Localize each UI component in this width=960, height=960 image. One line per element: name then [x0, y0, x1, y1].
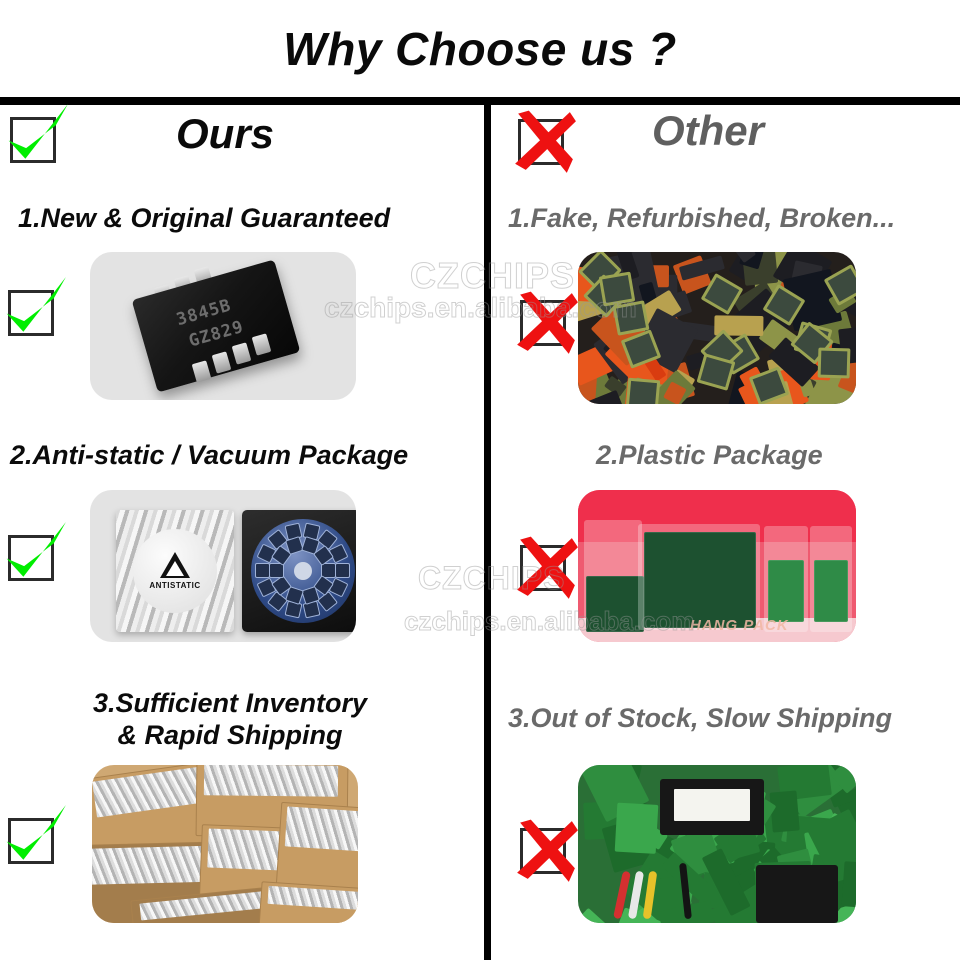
chip-photo: 3845B GZ829 [90, 252, 356, 400]
inventory-boxes-photo [92, 765, 358, 923]
scrap-module-label [674, 789, 750, 821]
scrap-chips-photo [578, 252, 856, 404]
reel-pocket [255, 563, 270, 578]
cross-mark-icon [518, 119, 564, 165]
scrap-chips-illustration [578, 252, 856, 404]
row-3-ours-text: 3.Sufficient Inventory & Rapid Shipping [20, 688, 440, 752]
antistatic-label-text: ANTISTATIC [149, 581, 200, 590]
column-header-other: Other [652, 107, 764, 155]
page-title: Why Choose us ? [0, 22, 960, 76]
chip-illustration: 3845B GZ829 [90, 252, 356, 400]
pcb-flake [615, 803, 658, 854]
pcb-flake [578, 908, 612, 923]
cross-mark-icon [520, 300, 566, 346]
antistatic-bag: ⚡ ANTISTATIC [116, 510, 234, 632]
row-1-other-text: 1.Fake, Refurbished, Broken... [508, 203, 895, 235]
cross-glyph [508, 529, 584, 605]
plastic-package-photo: HANG PACK [578, 490, 856, 642]
check-glyph [0, 274, 72, 350]
inventory-boxes-illustration [92, 765, 358, 923]
row-1-ours-text: 1.New & Original Guaranteed [18, 203, 390, 235]
check-glyph [0, 519, 72, 595]
scrap-chip-flake [578, 252, 581, 257]
reel-hub [294, 562, 312, 580]
cross-mark-icon [520, 828, 566, 874]
row-3-ours-text-line2: & Rapid Shipping [20, 720, 440, 752]
plastic-package-illustration: HANG PACK [578, 490, 856, 642]
cross-mark-icon [520, 545, 566, 591]
scrap-chip-die [817, 348, 850, 379]
pcb-scrap-photo [578, 765, 856, 923]
component-reel-box [242, 510, 356, 632]
row-3-ours-text-line1: 3.Sufficient Inventory [20, 688, 440, 720]
check-mark-icon [8, 535, 54, 581]
row-2-ours-text: 2.Anti-static / Vacuum Package [10, 440, 408, 472]
check-mark-icon [8, 818, 54, 864]
esd-warning-icon: ⚡ [160, 552, 190, 578]
package-box-text: HANG PACK [690, 617, 789, 634]
antistatic-label: ⚡ ANTISTATIC [133, 529, 217, 613]
pcb-scrap-illustration [578, 765, 856, 923]
scrap-chip-die [598, 271, 635, 306]
column-header-ours: Ours [176, 110, 274, 158]
antistatic-bag-stack [285, 806, 358, 852]
pcb-flake [769, 790, 799, 832]
scrap-chip-die [613, 300, 650, 335]
antistatic-bag-stack [204, 765, 338, 797]
vertical-divider [484, 105, 491, 960]
comparison-infographic: Why Choose us ? Ours Other 1.New & Origi… [0, 0, 960, 960]
pcb-flake [842, 861, 856, 910]
component-reel [251, 519, 355, 623]
row-2-other-text: 2.Plastic Package [596, 440, 823, 472]
horizontal-divider [0, 97, 960, 105]
check-glyph [0, 101, 74, 177]
cross-glyph [508, 284, 584, 360]
check-glyph [0, 802, 72, 878]
antistatic-illustration: ⚡ ANTISTATIC [90, 490, 356, 642]
scrap-chip-die [626, 377, 660, 404]
check-mark-icon [10, 117, 56, 163]
row-3-other-text: 3.Out of Stock, Slow Shipping [508, 703, 892, 735]
check-mark-icon [8, 290, 54, 336]
cross-glyph [506, 103, 582, 179]
reel-pocket [335, 563, 350, 578]
scrap-black-module [660, 779, 764, 835]
antistatic-package-photo: ⚡ ANTISTATIC [90, 490, 356, 642]
cross-glyph [508, 812, 584, 888]
